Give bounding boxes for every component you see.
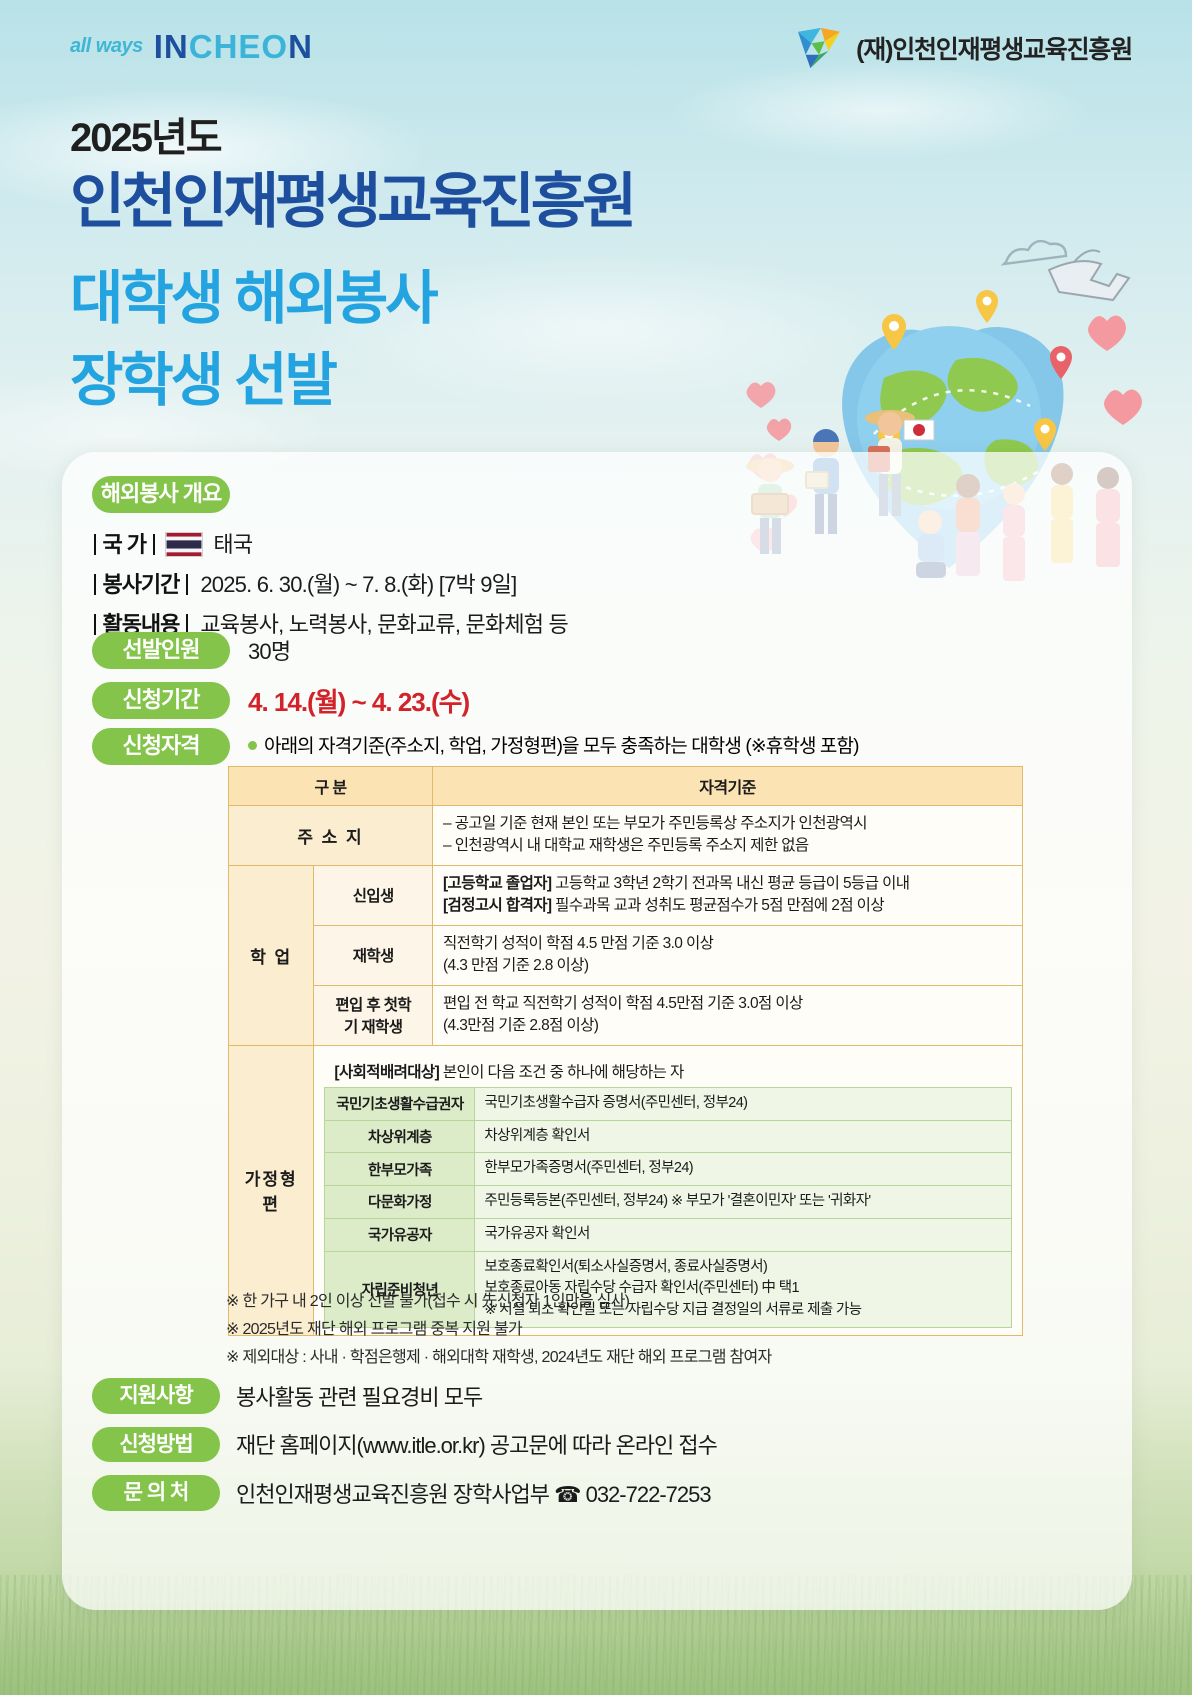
table-row-address: 주 소 지 – 공고일 기준 현재 본인 또는 부모가 주민등록상 주소지가 인…	[229, 806, 1023, 866]
footer-value-apply-method[interactable]: 재단 홈페이지(www.itle.or.kr) 공고문에 따라 온라인 접수	[236, 1428, 717, 1460]
eligibility-badge: 신청자격	[92, 728, 230, 765]
application-period-section: 신청기간 4. 14.(월) ~ 4. 23.(수)	[92, 682, 469, 719]
footer-badge-contact: 문 의 처	[92, 1475, 220, 1511]
table-cell-sub-transfer: 편입 후 첫학 기 재학생	[314, 985, 433, 1045]
table-row-academic-transfer: 편입 후 첫학 기 재학생 편입 전 학교 직전학기 성적이 학점 4.5만점 …	[229, 985, 1023, 1045]
overview-label-period: 봉사기간	[102, 572, 179, 597]
note-2: ※ 2025년도 재단 해외 프로그램 중복 지원 불가	[226, 1316, 1086, 1344]
bullet-dot-icon	[248, 741, 257, 750]
family-value-near-poverty: 차상위계층 확인서	[475, 1120, 1012, 1153]
eligibility-lead: 아래의 자격기준(주소지, 학업, 가정형편)을 모두 충족하는 대학생 (※휴…	[248, 728, 859, 758]
family-key-single-parent: 한부모가족	[325, 1153, 475, 1186]
footer-row-apply-method: 신청방법 재단 홈페이지(www.itle.or.kr) 공고문에 따라 온라인…	[92, 1427, 717, 1463]
family-row-basic-livelihood: 국민기초생활수급권자 국민기초생활수급자 증명서(주민센터, 정부24)	[325, 1087, 1012, 1120]
incheon-logo-n2: N	[288, 28, 313, 65]
family-value-basic-livelihood: 국민기초생활수급자 증명서(주민센터, 정부24)	[475, 1087, 1012, 1120]
table-header-row: 구 분 자격기준	[229, 767, 1023, 806]
family-subtitle: [사회적배려대상] 본인이 다음 조건 중 하나에 해당하는 자	[324, 1053, 1012, 1087]
footer-badge-support: 지원사항	[92, 1378, 220, 1414]
family-row-single-parent: 한부모가족 한부모가족증명서(주민센터, 정부24)	[325, 1153, 1012, 1186]
freshman-bold-2: [검정고시 합격자]	[443, 897, 551, 914]
table-header-category: 구 분	[229, 767, 433, 806]
application-period-badge: 신청기간	[92, 682, 230, 719]
eligibility-table: 구 분 자격기준 주 소 지 – 공고일 기준 현재 본인 또는 부모가 주민등…	[228, 766, 1023, 1336]
table-cell-sub-freshman: 신입생	[314, 865, 433, 925]
divider-left	[94, 574, 96, 595]
eligibility-header: 신청자격 아래의 자격기준(주소지, 학업, 가정형편)을 모두 충족하는 대학…	[92, 728, 859, 765]
incheon-city-logo: all ways INCHEON	[70, 30, 313, 63]
freshman-line-2: [검정고시 합격자] 필수과목 교과 성취도 평균점수가 5점 만점에 2점 이…	[443, 895, 1012, 917]
table-cell-address-category: 주 소 지	[229, 806, 433, 866]
eligibility-table-wrap: 구 분 자격기준 주 소 지 – 공고일 기준 현재 본인 또는 부모가 주민등…	[228, 766, 1023, 1336]
incheon-logo-tagline: all ways	[70, 35, 143, 58]
poster-header: all ways INCHEON (재)인천인재평생교육진흥원	[0, 0, 1192, 90]
footer-value-contact: 인천인재평생교육진흥원 장학사업부 ☎ 032-722-7253	[236, 1477, 711, 1509]
divider-right	[186, 574, 188, 595]
note-3: ※ 제외대상 : 사내 · 학점은행제 · 해외대학 재학생, 2024년도 재…	[226, 1344, 1086, 1372]
title-organization: 인천인재평생교육진흥원	[70, 172, 633, 232]
table-header-criteria: 자격기준	[433, 767, 1023, 806]
family-key-basic-livelihood: 국민기초생활수급권자	[325, 1087, 475, 1120]
overview-section: 해외봉사 개요 국 가 태국 봉사기간 2025. 6. 30.(월) ~ 7.…	[92, 476, 568, 639]
foundation-name: (재)인천인재평생교육진흥원	[856, 30, 1132, 66]
divider-left	[94, 534, 96, 555]
freshman-line-1: [고등학교 졸업자] 고등학교 3학년 2학기 전과목 내신 평균 등급이 5등…	[443, 873, 1012, 895]
transfer-line-1: 편입 전 학교 직전학기 성적이 학점 4.5만점 기준 3.0점 이상	[443, 993, 1012, 1015]
footer-row-contact: 문 의 처 인천인재평생교육진흥원 장학사업부 ☎ 032-722-7253	[92, 1475, 717, 1511]
family-key-national-merit: 국가유공자	[325, 1218, 475, 1251]
application-period-value: 4. 14.(월) ~ 4. 23.(수)	[248, 682, 469, 719]
eligibility-lead-text: 아래의 자격기준(주소지, 학업, 가정형편)을 모두 충족하는 대학생 (※휴…	[264, 736, 859, 757]
thailand-flag-icon	[165, 532, 203, 557]
address-line-2: – 인천광역시 내 대학교 재학생은 주민등록 주소지 제한 없음	[443, 835, 1012, 857]
title-line-2: 대학생 해외봉사	[70, 270, 436, 328]
transfer-line-2: (4.3만점 기준 2.8점 이상)	[443, 1015, 1012, 1037]
overview-value-period: 2025. 6. 30.(월) ~ 7. 8.(화) [7박 9일]	[200, 572, 516, 597]
eligibility-notes: ※ 한 가구 내 2인 이상 선발 불가(접수 시 先신청자 1인만을 심사) …	[226, 1288, 1086, 1372]
family-row-near-poverty: 차상위계층 차상위계층 확인서	[325, 1120, 1012, 1153]
table-cell-transfer-body: 편입 전 학교 직전학기 성적이 학점 4.5만점 기준 3.0점 이상 (4.…	[433, 985, 1023, 1045]
quota-value: 30명	[248, 634, 290, 666]
overview-value-country: 태국	[213, 532, 252, 557]
overview-badge: 해외봉사 개요	[92, 476, 230, 513]
incheon-logo-i: I	[154, 28, 164, 65]
table-cell-academic-category: 학 업	[229, 865, 314, 1045]
table-cell-sub-enrolled: 재학생	[314, 925, 433, 985]
family-subtitle-rest: 본인이 다음 조건 중 하나에 해당하는 자	[439, 1064, 684, 1081]
overview-label-country: 국 가	[102, 532, 146, 557]
overview-row-country: 국 가 태국	[92, 527, 568, 559]
overview-row-period: 봉사기간 2025. 6. 30.(월) ~ 7. 8.(화) [7박 9일]	[92, 567, 568, 599]
family-row-national-merit: 국가유공자 국가유공자 확인서	[325, 1218, 1012, 1251]
incheon-logo-cheo: CHEO	[189, 28, 288, 65]
table-cell-enrolled-body: 직전학기 성적이 학점 4.5 만점 기준 3.0 이상 (4.3 만점 기준 …	[433, 925, 1023, 985]
footer-value-support: 봉사활동 관련 필요경비 모두	[236, 1380, 482, 1412]
family-value-single-parent: 한부모가족증명서(주민센터, 정부24)	[475, 1153, 1012, 1186]
enrolled-line-1: 직전학기 성적이 학점 4.5 만점 기준 3.0 이상	[443, 933, 1012, 955]
freshman-bold-1: [고등학교 졸업자]	[443, 875, 551, 892]
footer-section: 지원사항 봉사활동 관련 필요경비 모두 신청방법 재단 홈페이지(www.it…	[92, 1378, 717, 1524]
footer-row-support: 지원사항 봉사활동 관련 필요경비 모두	[92, 1378, 717, 1414]
divider-right	[153, 534, 155, 555]
incheon-logo-wordmark: INCHEON	[154, 30, 313, 63]
triangle-arrow-logo-icon	[796, 26, 844, 70]
family-key-multicultural: 다문화가정	[325, 1186, 475, 1219]
table-row-academic-enrolled: 재학생 직전학기 성적이 학점 4.5 만점 기준 3.0 이상 (4.3 만점…	[229, 925, 1023, 985]
quota-section: 선발인원 30명	[92, 632, 290, 669]
note-1: ※ 한 가구 내 2인 이상 선발 불가(접수 시 先신청자 1인만을 심사)	[226, 1288, 1086, 1316]
table-cell-address-body: – 공고일 기준 현재 본인 또는 부모가 주민등록상 주소지가 인천광역시 –…	[433, 806, 1023, 866]
family-value-national-merit: 국가유공자 확인서	[475, 1218, 1012, 1251]
title-year: 2025년도	[70, 105, 221, 163]
foundation-logo: (재)인천인재평생교육진흥원	[796, 26, 1132, 70]
family-subtitle-bold: [사회적배려대상]	[334, 1064, 439, 1081]
enrolled-line-2: (4.3 만점 기준 2.8 이상)	[443, 955, 1012, 977]
title-line-3: 장학생 선발	[70, 352, 335, 410]
family-key-near-poverty: 차상위계층	[325, 1120, 475, 1153]
quota-badge: 선발인원	[92, 632, 230, 669]
table-cell-freshman-body: [고등학교 졸업자] 고등학교 3학년 2학기 전과목 내신 평균 등급이 5등…	[433, 865, 1023, 925]
incheon-logo-n1: N	[164, 28, 189, 65]
family-row-multicultural: 다문화가정 주민등록등본(주민센터, 정부24) ※ 부모가 '결혼이민자' 또…	[325, 1186, 1012, 1219]
address-line-1: – 공고일 기준 현재 본인 또는 부모가 주민등록상 주소지가 인천광역시	[443, 813, 1012, 835]
family-value-multicultural: 주민등록등본(주민센터, 정부24) ※ 부모가 '결혼이민자' 또는 '귀화자…	[475, 1186, 1012, 1219]
footer-badge-apply-method: 신청방법	[92, 1427, 220, 1463]
table-row-academic-freshman: 학 업 신입생 [고등학교 졸업자] 고등학교 3학년 2학기 전과목 내신 평…	[229, 865, 1023, 925]
